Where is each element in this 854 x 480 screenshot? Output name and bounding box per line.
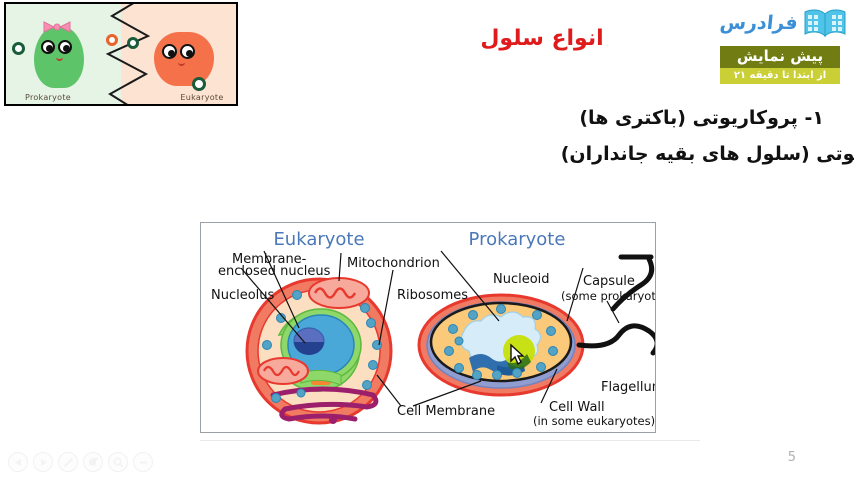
pen-icon[interactable] (58, 452, 78, 472)
page-number: 5 (788, 450, 796, 465)
list-item: ۱- پروکاریوتی (باکتری ها) (164, 100, 824, 136)
cell-comparison-diagram: Eukaryote Prokaryote Membrane- enclosed … (200, 222, 656, 433)
label-capsule: Capsule (583, 274, 635, 289)
label-membrane-line2: enclosed nucleus (218, 264, 331, 279)
open-book-icon (802, 8, 848, 38)
previous-icon[interactable] (8, 452, 28, 472)
cell-diagram-svg: Eukaryote Prokaryote Membrane- enclosed … (201, 223, 655, 432)
bullet-list: ۱- پروکاریوتی (باکتری ها) ۲- یوکاریوتی (… (164, 100, 824, 172)
list-item: ۲- یوکاریوتی (سلول های بقیه جانداران) (164, 136, 854, 172)
cartoon-illustration: Prokaryote Eukaryote (4, 2, 238, 106)
slide-title-text: انواع سلول (480, 26, 603, 51)
diagram-heading-eukaryote: Eukaryote (273, 229, 364, 250)
character-pupil-right (186, 50, 193, 57)
preview-badge-primary: پیش نمایش (720, 46, 840, 68)
label-ribosomes: Ribosomes (397, 288, 468, 303)
label-nucleoid: Nucleoid (493, 272, 550, 287)
label-capsule-sub: (some prokaryotes) (561, 289, 655, 303)
zoom-icon[interactable] (108, 452, 128, 472)
ring-icon (192, 77, 206, 91)
mitochondrion-shape (258, 358, 308, 384)
next-icon[interactable] (33, 452, 53, 472)
label-mitochondrion: Mitochondrion (347, 256, 440, 271)
label-cell-wall-sub: (in some eukaryotes) (533, 414, 655, 428)
label-cell-wall: Cell Wall (549, 400, 605, 415)
diagram-heading-prokaryote: Prokaryote (469, 229, 566, 250)
flagellum-shape (579, 326, 655, 353)
slides-icon[interactable] (83, 452, 103, 472)
presentation-slide: Prokaryote Eukaryote انواع سلول فرادرس پ… (0, 0, 854, 480)
brand-logo: فرادرس (720, 8, 848, 38)
brand-name: فرادرس (719, 12, 799, 34)
zigzag-divider-icon (102, 2, 158, 106)
label-nucleolus: Nucleolus (211, 288, 275, 303)
minus-icon[interactable] (133, 452, 153, 472)
character-pupil-left (168, 50, 175, 57)
player-toolbar[interactable] (8, 452, 153, 472)
footer-divider (200, 440, 700, 441)
preview-badge: پیش نمایش از ابتدا تا دقیقه ۲۱ (720, 46, 840, 84)
mitochondrion-shape (309, 278, 369, 308)
label-cell-membrane: Cell Membrane (397, 404, 495, 419)
preview-badge-secondary: از ابتدا تا دقیقه ۲۱ (720, 68, 840, 84)
label-flagellum: Flagellum (601, 380, 655, 395)
